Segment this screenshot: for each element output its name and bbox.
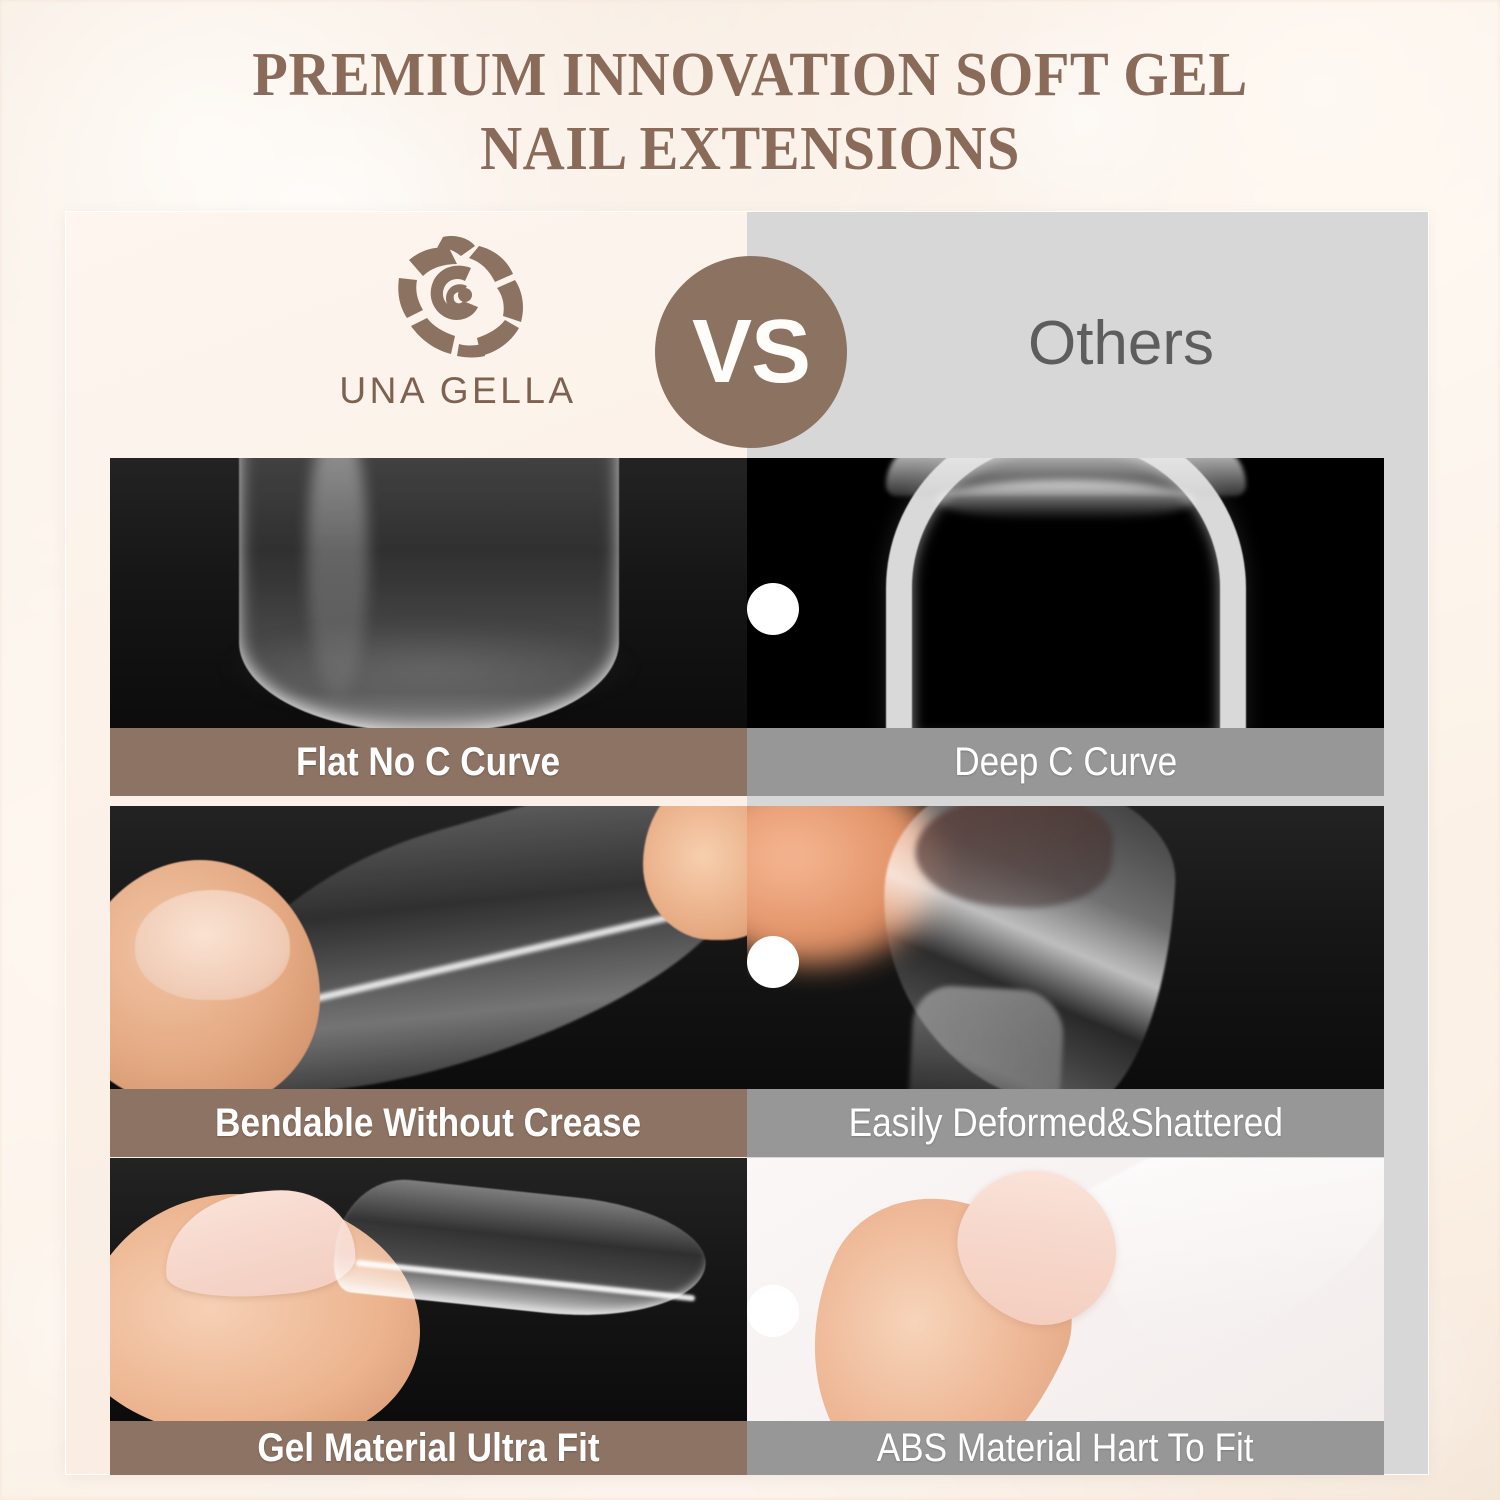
caption-text: Flat No C Curve — [296, 740, 560, 785]
comparison-cell-una-gella-2: Bendable Without Crease — [110, 806, 747, 1157]
comparison-row-2: Bendable Without Crease Easily Deformed&… — [110, 806, 1384, 1150]
panel-header: UNA GELLA VS Others — [66, 212, 1428, 452]
photo-bendable-without-crease — [110, 806, 747, 1089]
comparison-cell-una-gella-1: Flat No C Curve — [110, 458, 747, 796]
comparison-row-1-cells: Flat No C Curve Deep C Curve — [110, 458, 1384, 796]
divider-dot-1 — [747, 583, 799, 635]
comparison-row-1: Flat No C Curve Deep C Curve — [110, 458, 1384, 798]
comparison-panel: UNA GELLA VS Others Flat No C Curve — [66, 212, 1428, 1474]
caption-flat-no-c-curve: Flat No C Curve — [110, 728, 747, 796]
photo-gel-material-ultra-fit — [110, 1158, 747, 1421]
others-label: Others — [886, 308, 1356, 379]
comparison-row-2-cells: Bendable Without Crease Easily Deformed&… — [110, 806, 1384, 1157]
comparison-cell-others-3: ABS Material Hart To Fit — [747, 1158, 1384, 1475]
photo-abs-material-hart-to-fit — [747, 1158, 1384, 1421]
rose-icon — [288, 234, 628, 366]
photo-deep-c-curve — [747, 458, 1384, 728]
photo-easily-deformed-shattered — [747, 806, 1384, 1089]
caption-text: Bendable Without Crease — [215, 1101, 641, 1146]
caption-text: Easily Deformed&Shattered — [848, 1101, 1282, 1146]
flat-nail-tip-shape — [239, 458, 619, 728]
caption-text: Gel Material Ultra Fit — [257, 1426, 599, 1471]
caption-abs-material-hart-to-fit: ABS Material Hart To Fit — [747, 1421, 1384, 1475]
comparison-cell-others-1: Deep C Curve — [747, 458, 1384, 796]
caption-bendable-without-crease: Bendable Without Crease — [110, 1089, 747, 1157]
brand-name: UNA GELLA — [288, 370, 628, 412]
comparison-cell-una-gella-3: Gel Material Ultra Fit — [110, 1158, 747, 1475]
vs-label: VS — [692, 307, 810, 397]
divider-dot-2 — [747, 936, 799, 988]
caption-deep-c-curve: Deep C Curve — [747, 728, 1384, 796]
comparison-cell-others-2: Easily Deformed&Shattered — [747, 806, 1384, 1157]
caption-text: Deep C Curve — [954, 740, 1177, 785]
deformed-nail-tip-shape — [874, 806, 1181, 1089]
caption-gel-material-ultra-fit: Gel Material Ultra Fit — [110, 1421, 747, 1475]
page-title-line-2: NAIL EXTENSIONS — [45, 112, 1455, 186]
vs-badge: VS — [655, 256, 847, 448]
caption-easily-deformed-shattered: Easily Deformed&Shattered — [747, 1089, 1384, 1157]
caption-text: ABS Material Hart To Fit — [877, 1426, 1254, 1471]
photo-flat-no-c-curve — [110, 458, 747, 728]
deep-c-curve-tip-shape — [886, 458, 1246, 728]
brand-lockup: UNA GELLA — [288, 234, 628, 412]
divider-dot-3 — [747, 1285, 799, 1337]
page-title-line-1: PREMIUM INNOVATION SOFT GEL — [45, 38, 1455, 112]
page-title: PREMIUM INNOVATION SOFT GEL NAIL EXTENSI… — [45, 38, 1455, 186]
